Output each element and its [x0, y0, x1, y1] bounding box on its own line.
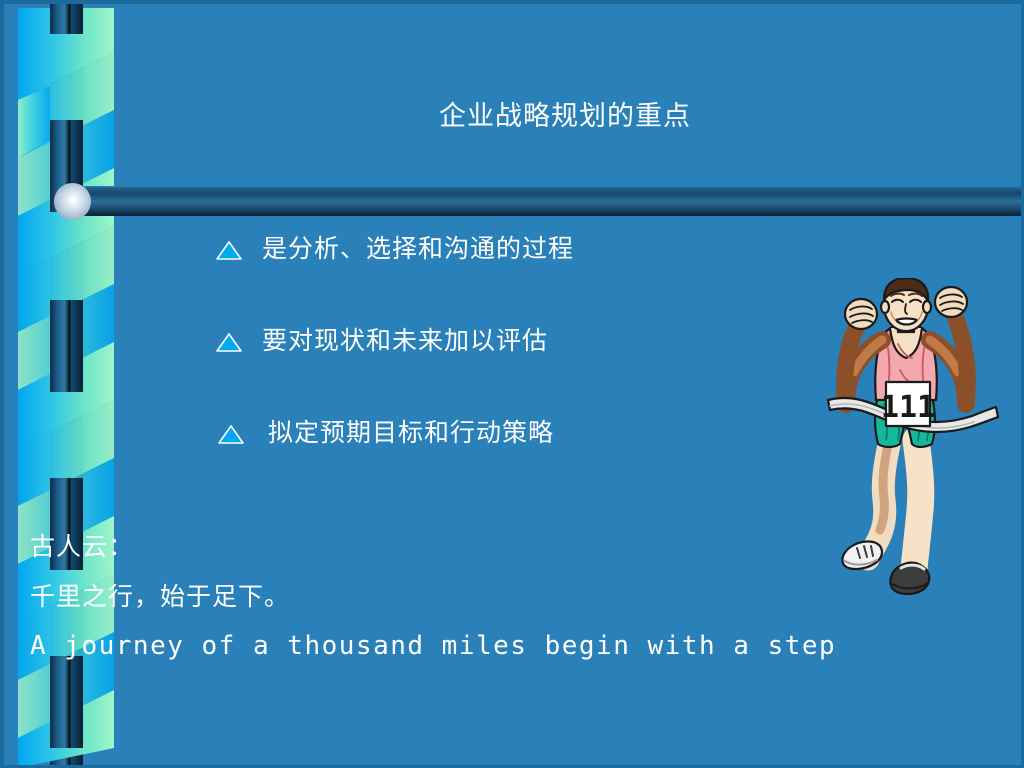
slide-edge-top	[0, 0, 1024, 4]
bib-number: 111	[881, 390, 935, 425]
list-item-label: 要对现状和未来加以评估	[262, 326, 548, 356]
list-item-label: 是分析、选择和沟通的过程	[262, 234, 574, 264]
horizontal-divider-bar	[78, 186, 1024, 216]
quote-english: A journey of a thousand miles begin with…	[30, 622, 1015, 670]
bullet-list: 是分析、选择和沟通的过程 要对现状和未来加以评估 拟定预期目标和行动策略	[214, 226, 854, 502]
victorious-runner-illustration: 111	[812, 278, 1002, 608]
list-item: 要对现状和未来加以评估	[214, 318, 854, 364]
list-item-label: 拟定预期目标和行动策略	[264, 418, 554, 448]
triangle-bullet-icon	[214, 330, 244, 354]
triangle-bullet-icon	[214, 238, 244, 262]
sphere-ornament	[54, 183, 91, 220]
slide-canvas: 企业战略规划的重点 是分析、选择和沟通的过程 要对现状和未来加以评估	[0, 0, 1024, 768]
triangle-bullet-icon	[216, 422, 246, 446]
page-title: 企业战略规划的重点	[140, 96, 990, 136]
list-item: 是分析、选择和沟通的过程	[214, 226, 854, 272]
list-item: 拟定预期目标和行动策略	[214, 410, 854, 456]
